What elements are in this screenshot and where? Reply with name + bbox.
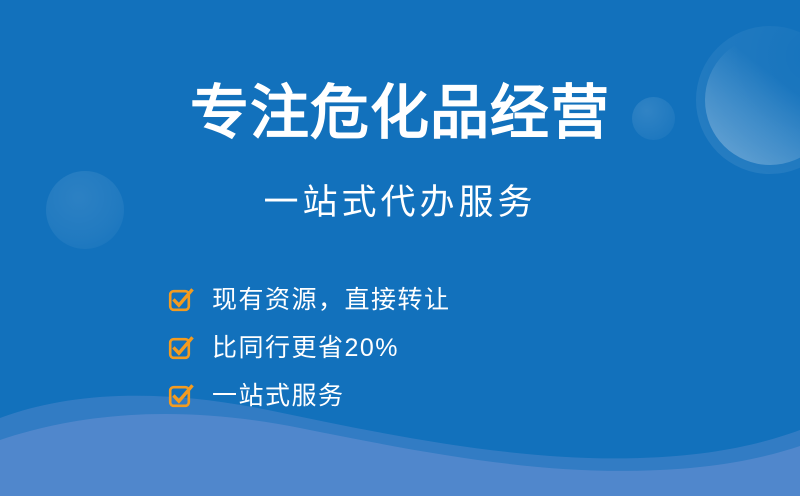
banner-content: 专注危化品经营 一站式代办服务 现有资源，直接转让 比同行更省20% [0, 0, 800, 496]
promo-banner: 专注危化品经营 一站式代办服务 现有资源，直接转让 比同行更省20% [0, 0, 800, 496]
list-item-label: 比同行更省20% [212, 336, 399, 361]
list-item: 现有资源，直接转让 [168, 276, 608, 324]
checkbox-checked-icon [168, 383, 194, 409]
checkbox-checked-icon [168, 335, 194, 361]
feature-list: 现有资源，直接转让 比同行更省20% 一站式服务 [168, 276, 608, 420]
list-item: 一站式服务 [168, 372, 608, 420]
checkbox-checked-icon [168, 287, 194, 313]
headline: 专注危化品经营 [0, 84, 800, 143]
list-item: 比同行更省20% [168, 324, 608, 372]
list-item-label: 现有资源，直接转让 [212, 288, 451, 313]
subheadline: 一站式代办服务 [0, 185, 800, 220]
list-item-label: 一站式服务 [212, 384, 345, 409]
